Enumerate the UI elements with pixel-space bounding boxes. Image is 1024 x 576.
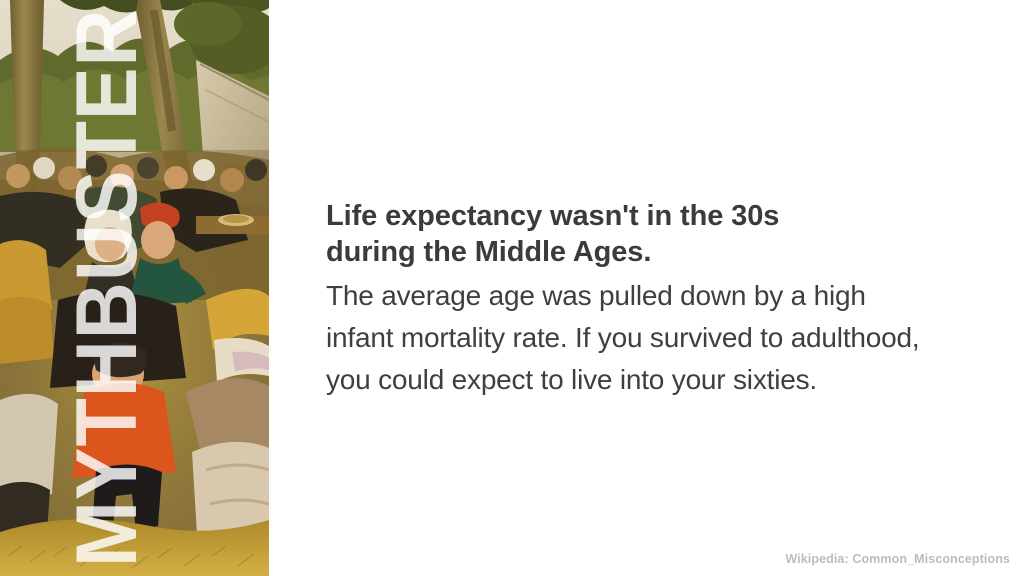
slide-root: MYTHBUSTER Life expectancy wasn't in the… xyxy=(0,0,1024,576)
body-line-3: you could expect to live into your sixti… xyxy=(326,359,998,401)
artwork-panel: MYTHBUSTER xyxy=(0,0,269,576)
body-text: The average age was pulled down by a hig… xyxy=(326,275,998,401)
content-block: Life expectancy wasn't in the 30s during… xyxy=(326,198,998,401)
body-line-2: infant mortality rate. If you survived t… xyxy=(326,317,998,359)
headline-line-1: Life expectancy wasn't in the 30s xyxy=(326,198,998,234)
page-title: Life expectancy wasn't in the 30s during… xyxy=(326,198,998,270)
source-credit: Wikipedia: Common_Misconceptions xyxy=(785,552,1010,566)
peasant-wedding-feast-painting xyxy=(0,0,269,576)
headline-line-2: during the Middle Ages. xyxy=(326,234,998,270)
body-line-1: The average age was pulled down by a hig… xyxy=(326,275,998,317)
